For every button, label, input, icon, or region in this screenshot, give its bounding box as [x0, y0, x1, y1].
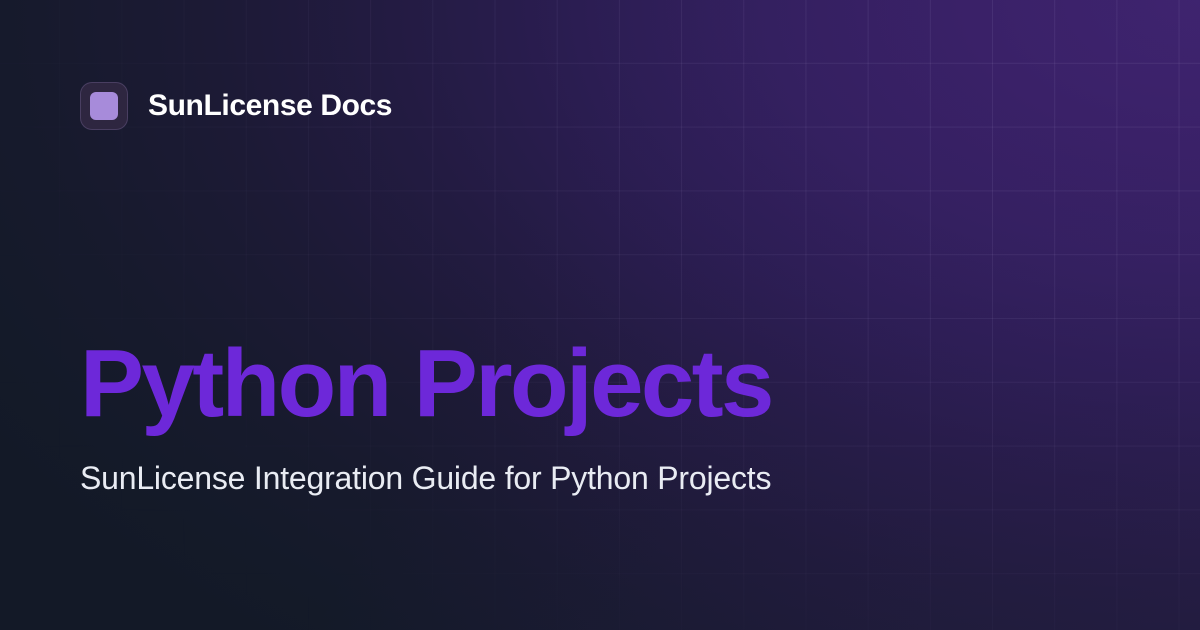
brand-name: SunLicense Docs [148, 91, 392, 121]
rounded-square-logo-icon [80, 82, 128, 130]
hero-content: Python Projects SunLicense Integration G… [80, 336, 880, 500]
page-title: Python Projects [80, 336, 880, 432]
brand-header: SunLicense Docs [80, 82, 392, 130]
logo-inner-square [90, 92, 118, 120]
page-subtitle: SunLicense Integration Guide for Python … [80, 456, 792, 500]
og-card: SunLicense Docs Python Projects SunLicen… [0, 0, 1200, 630]
